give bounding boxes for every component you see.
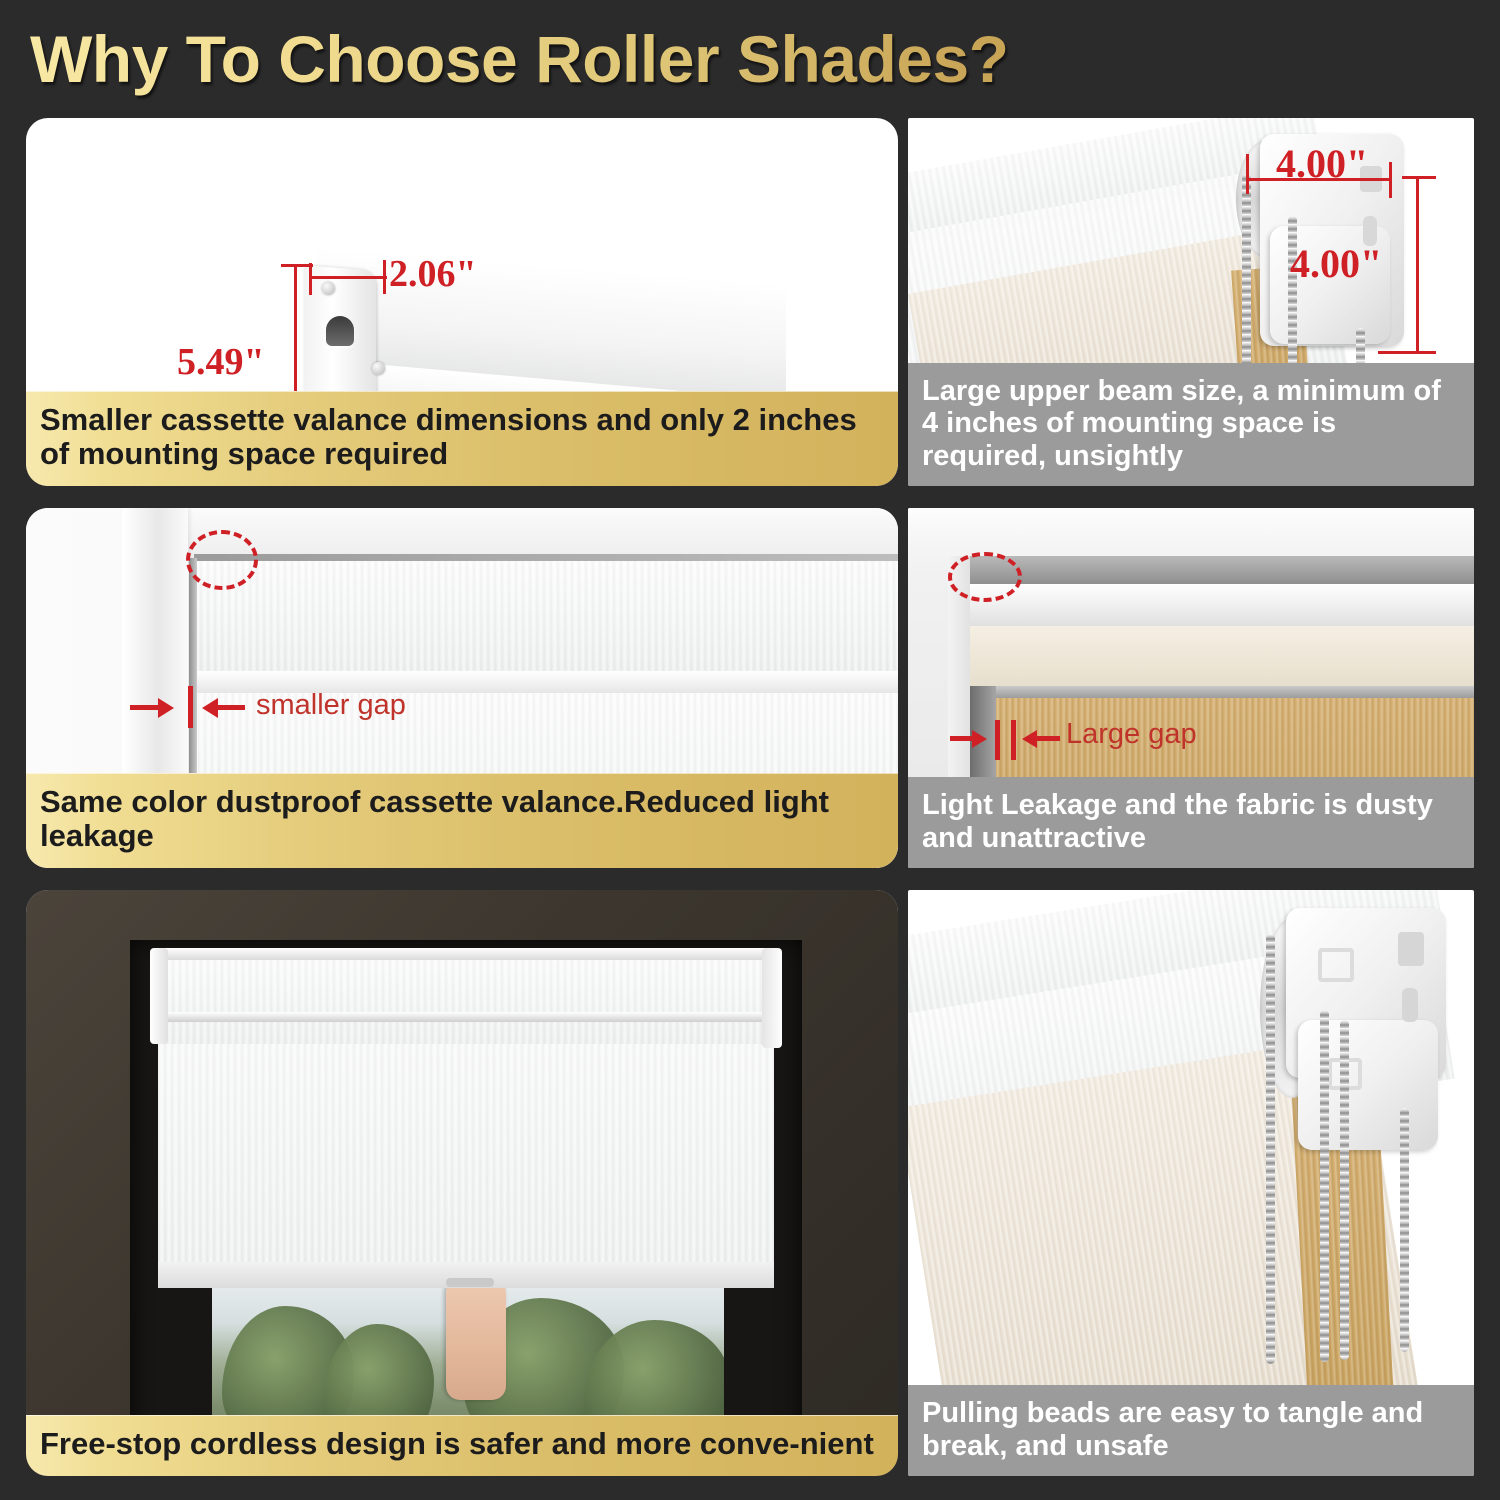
panel-dustproof-valance: smaller gap Same color dustproof cassett… — [26, 508, 898, 868]
bracket-slot — [1402, 988, 1418, 1022]
infographic-root: Why To Choose Roller Shades? 2.06" 5.49"… — [0, 0, 1500, 1500]
valance-top-cap — [152, 948, 780, 960]
cassette-valance — [152, 952, 780, 1044]
gap-arrow-right-shaft — [1036, 736, 1060, 741]
gap-arrow-left-shaft — [950, 736, 974, 741]
cassette-slot — [326, 316, 354, 346]
dim-tick-right — [1389, 162, 1392, 198]
valance-bottom-edge — [960, 686, 1474, 698]
valance-cream-band — [960, 626, 1474, 686]
callout-ellipse — [186, 530, 258, 590]
bracket-notch — [1398, 932, 1424, 966]
gap-marker — [1011, 720, 1016, 760]
valance-face — [194, 561, 898, 671]
bead-chain — [1400, 1108, 1409, 1352]
screw-icon — [372, 362, 385, 375]
panel-4-caption: Light Leakage and the fabric is dusty an… — [908, 777, 1474, 868]
gap-arrow-right-shaft — [217, 705, 245, 710]
panel-2-caption: Large upper beam size, a minimum of 4 in… — [908, 363, 1474, 486]
valance-lip — [154, 1012, 778, 1022]
gap-arrow-right-head — [1022, 730, 1037, 748]
valance-end-cap-right — [762, 948, 782, 1048]
gap-callout-label: smaller gap — [256, 689, 406, 722]
ceiling-trim — [908, 508, 1474, 552]
panel-6-caption: Pulling beads are easy to tangle and bre… — [908, 1385, 1474, 1476]
bead-chain — [1340, 1020, 1349, 1360]
panel-smaller-cassette: 2.06" 5.49" Smaller cassette valance dim… — [26, 118, 898, 486]
gap-arrow-left-head — [972, 730, 987, 748]
dim-tick-left — [1246, 154, 1249, 194]
callout-ellipse — [948, 552, 1022, 602]
gap-marker — [188, 686, 193, 728]
dim-tick-top — [281, 264, 313, 267]
gap-arrow-left-head — [158, 698, 174, 718]
shade-pull-handle[interactable] — [446, 1278, 494, 1287]
gap-arrow-right-head — [202, 698, 218, 718]
dim-label-width: 2.06" — [389, 252, 477, 296]
mounting-bracket-lower — [1298, 1020, 1438, 1150]
gap-marker — [995, 720, 1000, 760]
panel-large-upper-beam: 4.00" 4.00" Large upper beam size, a min… — [908, 118, 1474, 486]
panel-3-caption: Same color dustproof cassette valance.Re… — [26, 773, 898, 868]
bead-chain — [1320, 1010, 1329, 1362]
valance-end-cap-left — [150, 948, 168, 1044]
dim-line-vertical — [1416, 176, 1419, 354]
panel-cordless-design: Free-stop cordless design is safer and m… — [26, 890, 898, 1476]
dim-line-horizontal — [309, 276, 387, 279]
dim-label-width: 4.00" — [1276, 140, 1368, 187]
panel-5-caption: Free-stop cordless design is safer and m… — [26, 1415, 898, 1476]
dim-tick-bottom — [1378, 351, 1436, 354]
gap-callout-label: Large gap — [1066, 718, 1197, 751]
headrail-face — [958, 584, 1474, 626]
valance-top-edge — [194, 554, 898, 561]
dim-label-height: 5.49" — [177, 340, 265, 384]
bead-chain — [1266, 934, 1275, 1364]
headrail-top — [956, 556, 1474, 584]
dim-tick-top — [1402, 176, 1436, 179]
bracket-arrow-emblem — [1318, 948, 1354, 982]
screw-icon — [322, 282, 335, 295]
panel-pulling-beads: Pulling beads are easy to tangle and bre… — [908, 890, 1474, 1476]
panel-1-caption: Smaller cassette valance dimensions and … — [26, 391, 898, 486]
dim-tick-right — [383, 260, 386, 294]
gap-arrow-left-shaft — [130, 705, 160, 710]
panel-light-leakage: Large gap Light Leakage and the fabric i… — [908, 508, 1474, 868]
page-title: Why To Choose Roller Shades? — [30, 20, 1130, 98]
dim-tick-left — [309, 263, 312, 295]
dim-label-height: 4.00" — [1290, 240, 1382, 287]
panel-5-photo — [26, 890, 898, 1476]
